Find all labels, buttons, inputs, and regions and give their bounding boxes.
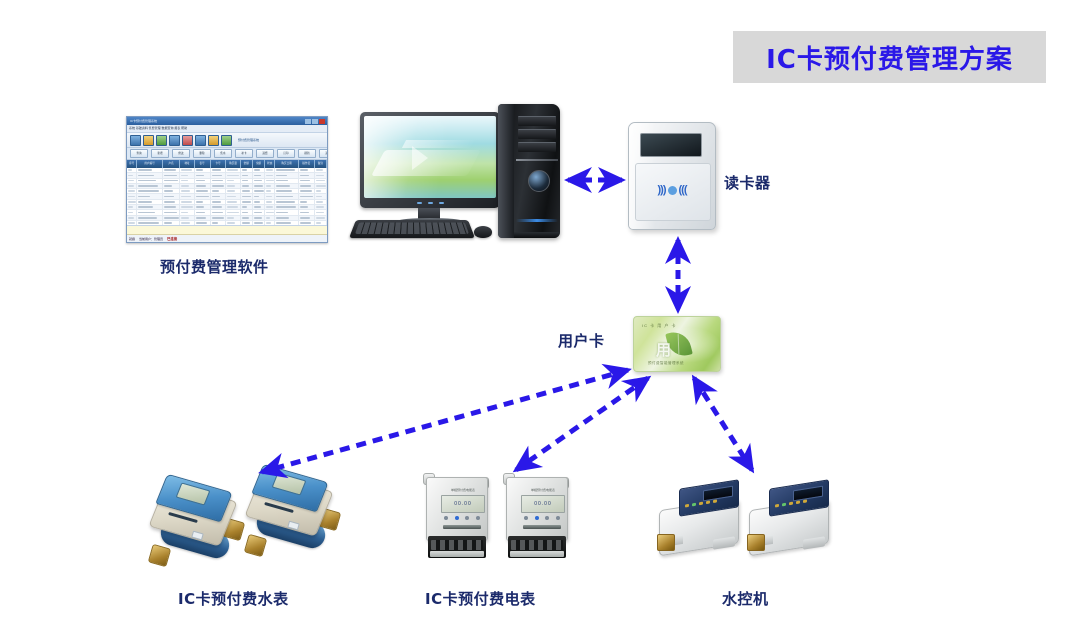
connector-card-to-water-controller xyxy=(694,378,752,470)
table-cell xyxy=(137,194,162,198)
table-cell xyxy=(195,179,211,183)
table-cell xyxy=(315,184,327,188)
table-cell xyxy=(253,216,265,220)
caption-electric-meter: IC卡预付费电表 xyxy=(425,588,536,609)
software-statusbar: 就绪 当前用户：管理员 已连接 xyxy=(127,225,327,242)
table-cell xyxy=(127,200,137,204)
led-indicator xyxy=(782,503,786,507)
pc-tower xyxy=(498,104,560,238)
table-cell xyxy=(226,210,240,214)
status-left: 就绪 xyxy=(129,237,135,241)
table-cell xyxy=(180,194,194,198)
tower-trim xyxy=(516,159,558,161)
table-cell xyxy=(265,216,275,220)
table-cell xyxy=(127,210,137,214)
led-indicator xyxy=(455,516,459,520)
table-cell xyxy=(180,189,194,193)
table-cell xyxy=(299,216,315,220)
toolbar-icon-edit[interactable] xyxy=(169,135,180,146)
table-cell xyxy=(315,179,327,183)
table-cell xyxy=(137,205,162,209)
table-cell xyxy=(211,216,227,220)
table-cell xyxy=(226,168,240,172)
table-cell xyxy=(226,184,240,188)
table-cell xyxy=(137,189,162,193)
table-cell xyxy=(163,179,181,183)
card-slot xyxy=(443,525,481,529)
led-indicator xyxy=(775,504,779,508)
table-cell xyxy=(253,168,265,172)
table-cell xyxy=(265,179,275,183)
table-cell xyxy=(315,189,327,193)
monitor-led-power xyxy=(417,202,422,204)
software-titlebar: IC卡预付费管理系统 xyxy=(127,117,327,125)
table-cell xyxy=(180,210,194,214)
monitor-led-menu xyxy=(428,202,433,204)
table-cell xyxy=(315,200,327,204)
table-cell xyxy=(180,168,194,172)
table-cell xyxy=(265,242,275,243)
status-mid: 当前用户：管理员 xyxy=(139,237,163,241)
connector-card-to-electric-meter xyxy=(516,378,648,470)
diagram-title: IC卡预付费管理方案 xyxy=(766,39,1013,76)
tower-side-panel xyxy=(498,104,514,238)
table-cell xyxy=(163,200,181,204)
brass-fitting-icon xyxy=(148,544,172,568)
table-cell xyxy=(241,189,253,193)
table-cell xyxy=(195,168,211,172)
table-cell xyxy=(275,242,298,243)
table-cell xyxy=(163,173,181,177)
table-cell xyxy=(127,205,137,209)
emeter-brand-text: 单相预付费电能表 xyxy=(521,488,565,492)
toolbar-icon-user[interactable] xyxy=(221,135,232,146)
table-cell xyxy=(211,210,227,214)
card-top-text: IC 卡 用 户 卡 xyxy=(642,323,676,329)
table-cell xyxy=(299,189,315,193)
table-cell xyxy=(137,242,162,243)
software-filter-button[interactable]: 新增 xyxy=(151,149,169,158)
close-icon[interactable] xyxy=(319,119,325,124)
card-reader-device: )))((( xyxy=(628,122,716,230)
terminal-cover xyxy=(430,551,484,557)
terminal-block xyxy=(428,536,486,558)
led-indicator xyxy=(789,502,793,506)
table-cell xyxy=(211,189,227,193)
terminal-contacts xyxy=(431,540,483,550)
table-cell xyxy=(180,242,194,243)
table-cell xyxy=(137,179,162,183)
table-cell xyxy=(163,205,181,209)
table-row[interactable] xyxy=(127,242,327,243)
terminal-cover xyxy=(510,551,564,557)
software-table-column-header[interactable]: 购买量 xyxy=(226,160,240,168)
table-cell xyxy=(127,184,137,188)
software-table-column-header[interactable]: 金额 xyxy=(241,160,253,168)
minimize-icon[interactable] xyxy=(305,119,311,124)
led-indicator xyxy=(692,503,696,507)
led-indicator xyxy=(803,499,807,503)
electric-meter-device: 单相预付费电能表 00.00 xyxy=(420,473,494,565)
table-cell xyxy=(180,200,194,204)
software-table-column-header[interactable]: 购买日期 xyxy=(275,160,298,168)
maximize-icon[interactable] xyxy=(312,119,318,124)
emeter-lcd-screen: 00.00 xyxy=(441,495,485,513)
table-cell xyxy=(265,189,275,193)
wallpaper-arrow-icon xyxy=(412,146,428,170)
card-glyph: 用 xyxy=(656,339,671,360)
toolbar-icon-open[interactable] xyxy=(130,135,141,146)
table-cell xyxy=(226,194,240,198)
table-cell xyxy=(253,189,265,193)
table-cell xyxy=(315,242,327,243)
table-cell xyxy=(299,184,315,188)
tower-foot xyxy=(514,232,560,238)
tower-drive-bay xyxy=(518,129,556,139)
table-cell xyxy=(195,194,211,198)
table-cell xyxy=(253,184,265,188)
table-cell xyxy=(275,189,298,193)
software-toolbar[interactable]: 预付费管理系统 xyxy=(127,133,327,148)
table-cell xyxy=(163,210,181,214)
table-cell xyxy=(163,168,181,172)
emeter-lcd-screen: 00.00 xyxy=(521,495,565,513)
table-cell xyxy=(265,200,275,204)
table-cell xyxy=(253,242,265,243)
table-cell xyxy=(299,205,315,209)
brass-fitting-icon xyxy=(657,534,675,551)
table-cell xyxy=(137,210,162,214)
toolbar-icon-add[interactable] xyxy=(156,135,167,146)
table-cell xyxy=(315,173,327,177)
emeter-shell: 单相预付费电能表 00.00 xyxy=(506,477,568,541)
software-filter-bar[interactable]: 查询新增修改删除售水补卡退费打印刷新退出 xyxy=(127,148,327,160)
emeter-brand-text: 单相预付费电能表 xyxy=(441,488,485,492)
software-filter-button[interactable]: 刷新 xyxy=(298,149,316,158)
terminal-contacts xyxy=(511,540,563,550)
table-cell xyxy=(195,200,211,204)
emeter-shell: 单相预付费电能表 00.00 xyxy=(426,477,488,541)
led-indicator xyxy=(444,516,448,520)
table-cell xyxy=(253,205,265,209)
table-cell xyxy=(211,168,227,172)
table-cell xyxy=(163,194,181,198)
controller-foot xyxy=(803,536,825,549)
led-indicator xyxy=(706,501,710,505)
software-table-column-header[interactable]: 余额 xyxy=(253,160,265,168)
table-cell xyxy=(180,184,194,188)
table-cell xyxy=(195,205,211,209)
controller-foot xyxy=(713,536,735,549)
software-filter-button[interactable]: 退出 xyxy=(319,149,328,158)
table-cell xyxy=(275,216,298,220)
table-cell xyxy=(211,173,227,177)
table-cell xyxy=(315,216,327,220)
led-indicator xyxy=(535,516,539,520)
table-cell xyxy=(211,194,227,198)
table-cell xyxy=(180,179,194,183)
table-cell xyxy=(195,216,211,220)
software-table-column-header[interactable]: 操作员 xyxy=(299,160,315,168)
table-cell xyxy=(315,205,327,209)
table-cell xyxy=(226,200,240,204)
software-note-field[interactable] xyxy=(127,226,327,235)
led-indicator xyxy=(713,499,717,503)
table-cell xyxy=(299,210,315,214)
table-cell xyxy=(137,184,162,188)
table-cell xyxy=(275,205,298,209)
table-cell xyxy=(226,242,240,243)
table-cell xyxy=(265,168,275,172)
reader-lcd-screen xyxy=(640,133,702,157)
table-cell xyxy=(211,242,227,243)
table-cell xyxy=(241,205,253,209)
tower-led-strip xyxy=(516,219,558,222)
power-button-icon[interactable] xyxy=(528,170,550,192)
caption-user-card: 用户卡 xyxy=(558,330,605,351)
software-table-column-header[interactable]: 状态 xyxy=(265,160,275,168)
software-filter-button[interactable]: 查询 xyxy=(130,149,148,158)
table-cell xyxy=(315,194,327,198)
led-indicator xyxy=(465,516,469,520)
toolbar-title: 预付费管理系统 xyxy=(238,138,259,142)
water-controller-device xyxy=(745,480,837,558)
toolbar-icon-save[interactable] xyxy=(143,135,154,146)
table-cell xyxy=(163,189,181,193)
emeter-lcd-digits: 00.00 xyxy=(522,496,564,512)
table-cell xyxy=(275,194,298,198)
led-indicator xyxy=(545,516,549,520)
table-cell xyxy=(241,242,253,243)
window-controls[interactable] xyxy=(305,119,326,124)
table-cell xyxy=(127,242,137,243)
table-cell xyxy=(299,173,315,177)
brass-fitting-icon xyxy=(244,534,268,558)
rfid-center-dot xyxy=(668,186,677,195)
toolbar-icon-card[interactable] xyxy=(208,135,219,146)
table-cell xyxy=(195,189,211,193)
table-cell xyxy=(137,168,162,172)
brass-fitting-icon xyxy=(747,534,765,551)
table-cell xyxy=(241,173,253,177)
table-cell xyxy=(137,216,162,220)
software-table-column-header[interactable]: 序号 xyxy=(127,160,137,168)
table-cell xyxy=(275,184,298,188)
status-right: 已连接 xyxy=(167,236,177,241)
software-status-text: 就绪 当前用户：管理员 已连接 xyxy=(127,235,327,242)
table-cell xyxy=(211,200,227,204)
table-cell xyxy=(241,200,253,204)
led-indicator xyxy=(476,516,480,520)
table-cell xyxy=(127,168,137,172)
software-table-header: 序号用户编号户名地址表号卡号购买量金额余额状态购买日期操作员备注 xyxy=(127,160,327,168)
table-cell xyxy=(127,194,137,198)
table-cell xyxy=(180,205,194,209)
card-slot xyxy=(523,525,561,529)
table-cell xyxy=(265,194,275,198)
user-ic-card: IC 卡 用 户 卡 用 预付费智能管理系统 xyxy=(633,316,721,372)
table-cell xyxy=(127,173,137,177)
software-filter-button[interactable]: 打印 xyxy=(277,149,295,158)
led-indicator xyxy=(556,516,560,520)
monitor xyxy=(360,112,500,208)
software-table-column-header[interactable]: 备注 xyxy=(315,160,327,168)
software-window: IC卡预付费管理系统 系统 基础资料 售费管理 数据查询 报表 帮助 预付费管理… xyxy=(126,116,328,243)
keyboard xyxy=(349,220,475,238)
table-cell xyxy=(127,216,137,220)
table-cell xyxy=(299,179,315,183)
table-cell xyxy=(299,194,315,198)
table-cell xyxy=(265,210,275,214)
water-controller-device xyxy=(655,480,747,558)
software-filter-button[interactable]: 补卡 xyxy=(235,149,253,158)
table-cell xyxy=(241,184,253,188)
rfid-wave-icon: )))((( xyxy=(641,181,703,199)
desktop-computer xyxy=(350,104,580,246)
table-cell xyxy=(195,210,211,214)
table-cell xyxy=(253,210,265,214)
table-cell xyxy=(253,179,265,183)
led-indicator xyxy=(685,504,689,508)
monitor-led-input xyxy=(439,202,444,204)
table-cell xyxy=(299,242,315,243)
toolbar-icon-delete[interactable] xyxy=(182,135,193,146)
led-indicator xyxy=(524,516,528,520)
table-cell xyxy=(241,216,253,220)
caption-card-reader: 读卡器 xyxy=(724,172,771,193)
table-cell xyxy=(163,216,181,220)
table-cell xyxy=(180,216,194,220)
title-banner: IC卡预付费管理方案 xyxy=(733,31,1046,83)
software-table-column-header[interactable]: 用户编号 xyxy=(137,160,162,168)
table-cell xyxy=(226,216,240,220)
table-cell xyxy=(241,179,253,183)
monitor-screen xyxy=(364,116,496,198)
mouse xyxy=(474,226,492,238)
software-window-title: IC卡预付费管理系统 xyxy=(128,117,157,125)
software-filter-button[interactable]: 删除 xyxy=(193,149,211,158)
table-cell xyxy=(299,200,315,204)
caption-water-controller: 水控机 xyxy=(722,588,769,609)
table-cell xyxy=(315,210,327,214)
table-cell xyxy=(163,184,181,188)
table-cell xyxy=(265,205,275,209)
tower-drive-bay xyxy=(518,142,556,152)
software-table-column-header[interactable]: 表号 xyxy=(195,160,211,168)
emeter-led-row xyxy=(441,514,483,521)
table-cell xyxy=(241,210,253,214)
table-cell xyxy=(195,242,211,243)
table-cell xyxy=(195,173,211,177)
diagram-canvas: IC卡预付费管理方案 IC卡预付费管理系统 系统 基础资料 售费管理 数据查询 … xyxy=(0,0,1066,640)
keyboard-keys xyxy=(355,223,469,234)
card-bottom-text: 预付费智能管理系统 xyxy=(648,361,684,366)
water-meter-device xyxy=(244,466,340,562)
monitor-bezel xyxy=(364,198,496,208)
table-cell xyxy=(163,242,181,243)
table-cell xyxy=(275,173,298,177)
table-cell xyxy=(241,194,253,198)
led-indicator xyxy=(699,502,703,506)
table-cell xyxy=(299,168,315,172)
table-cell xyxy=(241,168,253,172)
table-cell xyxy=(127,179,137,183)
table-cell xyxy=(226,205,240,209)
table-cell xyxy=(275,179,298,183)
electric-meter-device: 单相预付费电能表 00.00 xyxy=(500,473,574,565)
table-cell xyxy=(275,168,298,172)
table-cell xyxy=(226,173,240,177)
emeter-led-row xyxy=(521,514,563,521)
table-cell xyxy=(195,184,211,188)
software-menubar[interactable]: 系统 基础资料 售费管理 数据查询 报表 帮助 xyxy=(127,125,327,133)
caption-software: 预付费管理软件 xyxy=(160,256,269,277)
software-filter-button[interactable]: 退费 xyxy=(256,149,274,158)
table-cell xyxy=(226,179,240,183)
software-filter-button[interactable]: 售水 xyxy=(214,149,232,158)
led-indicator xyxy=(796,501,800,505)
emeter-lcd-digits: 00.00 xyxy=(442,496,484,512)
table-cell xyxy=(137,200,162,204)
table-cell xyxy=(275,200,298,204)
terminal-block xyxy=(508,536,566,558)
table-cell xyxy=(253,194,265,198)
table-cell xyxy=(265,173,275,177)
table-cell xyxy=(265,184,275,188)
table-cell xyxy=(226,189,240,193)
connector-card-to-water-meter xyxy=(262,370,628,472)
tower-drive-bay xyxy=(518,116,556,126)
software-table-column-header[interactable]: 户名 xyxy=(163,160,181,168)
table-cell xyxy=(275,210,298,214)
software-table-column-header[interactable]: 卡号 xyxy=(211,160,227,168)
water-meter-device xyxy=(148,476,244,572)
software-table-column-header[interactable]: 地址 xyxy=(180,160,194,168)
table-cell xyxy=(253,173,265,177)
toolbar-icon-print[interactable] xyxy=(195,135,206,146)
table-cell xyxy=(180,173,194,177)
table-cell xyxy=(137,173,162,177)
table-cell xyxy=(315,168,327,172)
table-cell xyxy=(211,179,227,183)
software-filter-button[interactable]: 修改 xyxy=(172,149,190,158)
table-cell xyxy=(127,189,137,193)
table-cell xyxy=(211,205,227,209)
caption-water-meter: IC卡预付费水表 xyxy=(178,588,289,609)
table-cell xyxy=(211,184,227,188)
table-cell xyxy=(253,200,265,204)
